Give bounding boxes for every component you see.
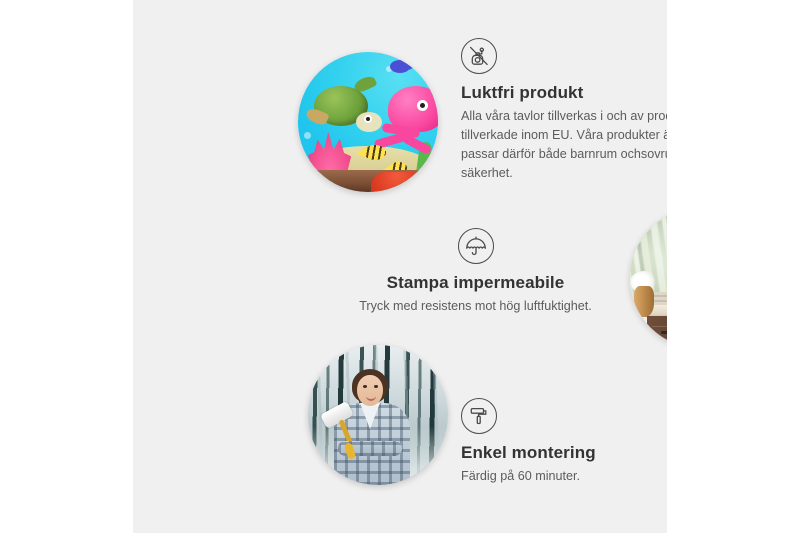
feature-description: Färdig på 60 minuter. — [461, 467, 667, 486]
octopus-eye — [417, 100, 428, 111]
underwater-scene — [298, 52, 438, 192]
person-eye — [363, 385, 367, 388]
person-face — [357, 375, 383, 406]
feature-odor-free: Luktfri produkt Alla våra tavlor tillver… — [461, 38, 667, 184]
feature-title: Enkel montering — [461, 443, 667, 463]
yellow-fish-icon — [364, 145, 386, 160]
feature-easy-mounting: Enkel montering Färdig på 60 minuter. — [461, 398, 667, 486]
painter-in-forest-photo — [308, 345, 448, 485]
no-odor-perfume-bottle-icon — [461, 38, 497, 74]
screenshot-stage: Luktfri produkt Alla våra tavlor tillver… — [0, 0, 800, 533]
person-eye — [374, 385, 378, 388]
vase — [634, 286, 654, 317]
blue-fish-icon — [390, 60, 410, 73]
red-rock — [371, 172, 435, 192]
bathroom-tropical-wallpaper-photo — [630, 208, 667, 348]
turtle-eye — [364, 115, 372, 123]
feature-title: Stampa impermeabile — [338, 273, 613, 293]
feature-waterproof: Stampa impermeabile Tryck med resistens … — [338, 228, 613, 316]
feature-description: Tryck med resistens mot hög luftfuktighe… — [338, 297, 613, 316]
umbrella-icon — [458, 228, 494, 264]
drawer-handle — [661, 331, 667, 334]
forest-scene — [308, 345, 448, 485]
bubble-icon — [304, 132, 311, 139]
feature-description: Alla våra tavlor tillverkas i och av pro… — [461, 107, 667, 184]
feature-title: Luktfri produkt — [461, 83, 667, 103]
paint-roller-icon — [461, 398, 497, 434]
feature-panel: Luktfri produkt Alla våra tavlor tillver… — [133, 0, 667, 533]
underwater-cartoon-photo — [298, 52, 438, 192]
bathroom-scene — [630, 208, 667, 348]
